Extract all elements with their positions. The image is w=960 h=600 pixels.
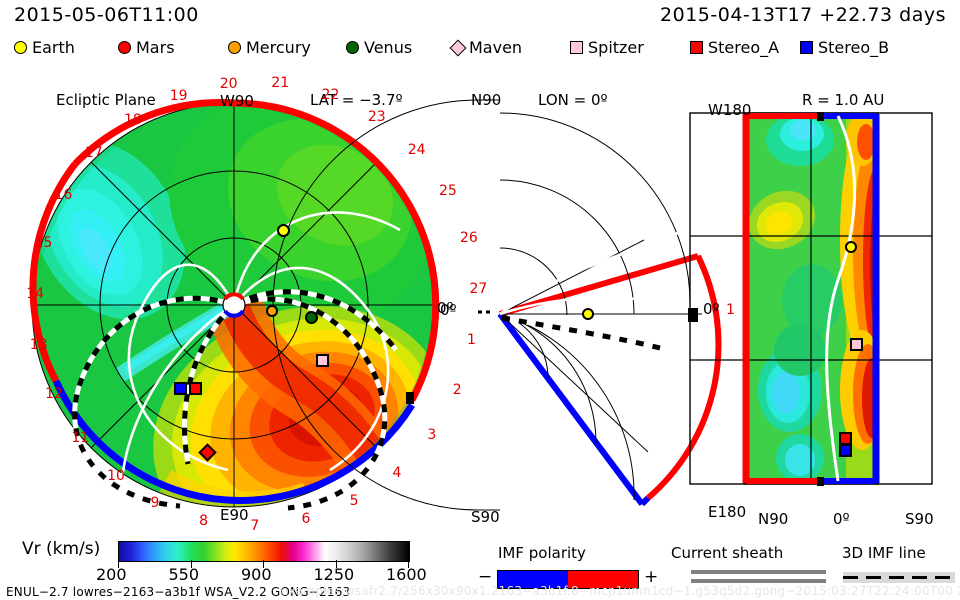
legend-item-stereo_a: Stereo_A [690,38,779,57]
colorbar-label: Vr (km/s) [22,541,100,558]
ecliptic-stereo-b-marker [174,382,187,395]
colorbar-tick-label-550: 550 [169,565,200,584]
ecliptic-hour-label-27: 27 [469,282,487,296]
legend-item-mars: Mars [118,38,175,57]
stereo_a-marker-icon [690,41,703,54]
legend-item-mercury: Mercury [228,38,311,57]
current-sheath-title: Current sheath [671,544,783,562]
ecliptic-hour-label-4: 4 [392,466,401,480]
imf-line-dash [889,576,904,579]
ecliptic-hour-label-8: 8 [199,514,208,528]
ecliptic-hour-label-26: 26 [460,231,478,245]
ecliptic-hour-label-19: 19 [170,89,188,103]
ecliptic-plane-panel [0,60,482,535]
legend-label: Earth [32,38,75,57]
meridional-right-label: 0º [703,302,720,317]
sphere-x-label-0: 0º [833,512,850,527]
legend-label: Maven [469,38,522,57]
legend-label: Mars [136,38,175,57]
legend-label: Mercury [246,38,311,57]
body-legend: EarthMarsMercuryVenusMavenSpitzerStereo_… [0,36,960,62]
imf-line-dash [843,576,858,579]
ecliptic-hour-label-12: 12 [45,387,63,401]
ecliptic-hour-label-3: 3 [427,428,436,442]
plot-canvas [0,60,960,535]
ecliptic-hour-label-7: 7 [250,519,259,533]
sphere-earth-marker [845,241,857,253]
meridional-earth-marker [582,308,594,320]
ecliptic-spitzer-marker [316,354,329,367]
legend-item-stereo_b: Stereo_B [800,38,889,57]
sphere-stereo-b-marker [839,444,852,457]
legend-item-earth: Earth [14,38,75,57]
run-start-timestamp: 2015-04-13T17 +22.73 days [660,4,946,26]
ecliptic-hour-label-18: 18 [124,113,142,127]
colorbar-tick-label-200: 200 [96,565,127,584]
sphere-spitzer-marker [850,338,863,351]
ecliptic-mercury-marker [266,305,278,317]
sphere-bottom-left-label: E180 [708,505,746,520]
earth-marker-icon [14,41,27,54]
sphere-panel-title: R = 1.0 AU [802,93,884,108]
stereo_b-marker-icon [800,41,813,54]
ecliptic-hour-label-20: 20 [220,77,238,91]
maven-marker-icon [450,39,467,56]
imf-line-dash [935,576,950,579]
ecliptic-hour-label-15: 15 [35,236,53,250]
mercury-marker-icon [228,41,241,54]
velocity-colorbar [118,541,410,562]
legend-label: Stereo_B [818,38,889,57]
legend-label: Venus [364,38,412,57]
ecliptic-hour-label-11: 11 [71,431,89,445]
sphere-map-panel [690,112,932,486]
venus-marker-icon [346,41,359,54]
ecliptic-hour-label-16: 16 [55,188,73,202]
ecliptic-earth-marker [277,224,290,237]
ecliptic-hour-label-13: 13 [30,338,48,352]
ecliptic-hour-label-23: 23 [368,110,386,124]
meridional-lon-annotation: LON = 0º [538,93,608,108]
simulation-timestamp: 2015-05-06T11:00 [14,4,199,26]
sphere-x-label-s90: S90 [905,512,934,527]
ecliptic-top-label: W90 [220,94,254,109]
ecliptic-hour-label-9: 9 [150,496,159,510]
legend-label: Spitzer [588,38,644,57]
current-sheath-line-top [691,570,826,574]
meridional-bottom-label: S90 [471,510,500,525]
ecliptic-hour-label-24: 24 [408,143,426,157]
colorbar-tick-label-1600: 1600 [386,565,427,584]
colorbar-tick-label-1250: 1250 [314,565,355,584]
ecliptic-stereo-a-marker [189,382,202,395]
ecliptic-hour-label-25: 25 [439,184,457,198]
ecliptic-hour-label-2: 2 [453,383,462,397]
ecliptic-hour-label-17: 17 [85,146,103,160]
ecliptic-hour-label-6: 6 [301,512,310,526]
mars-marker-icon [118,41,131,54]
sphere-x-label-n90: N90 [758,512,788,527]
ecliptic-bottom-label: E90 [220,508,249,523]
spitzer-marker-icon [570,41,583,54]
legend-item-maven: Maven [452,38,522,57]
meridional-top-label: N90 [471,93,501,108]
ecliptic-panel-title: Ecliptic Plane [56,93,156,108]
sphere-top-left-label: W180 [708,103,751,118]
imf-line-dash [912,576,927,579]
run-path-watermark: examples/wsafr2.7/256x30x90x1.2163−a3b1f… [281,584,960,598]
legend-label: Stereo_A [708,38,779,57]
ecliptic-hour-label-10: 10 [107,469,125,483]
imf-line-title: 3D IMF line [842,544,926,562]
ecliptic-hour-label-1: 1 [467,333,476,347]
current-sheath-line-bottom [691,579,826,583]
legend-item-spitzer: Spitzer [570,38,644,57]
ecliptic-hour-label-5: 5 [350,494,359,508]
imf-line-dash [866,576,881,579]
ecliptic-hour-label-14: 14 [26,287,44,301]
ecliptic-hour-label-22: 22 [322,88,340,102]
imf-line-sample [843,572,955,583]
sphere-y-tick: 1 [726,303,735,317]
meridional-left-label: 0º [440,303,457,318]
colorbar-tick-label-900: 900 [241,565,272,584]
ecliptic-hour-label-21: 21 [271,76,289,90]
imf-polarity-title: IMF polarity [498,544,586,562]
legend-item-venus: Venus [346,38,412,57]
ecliptic-venus-marker [305,311,318,324]
